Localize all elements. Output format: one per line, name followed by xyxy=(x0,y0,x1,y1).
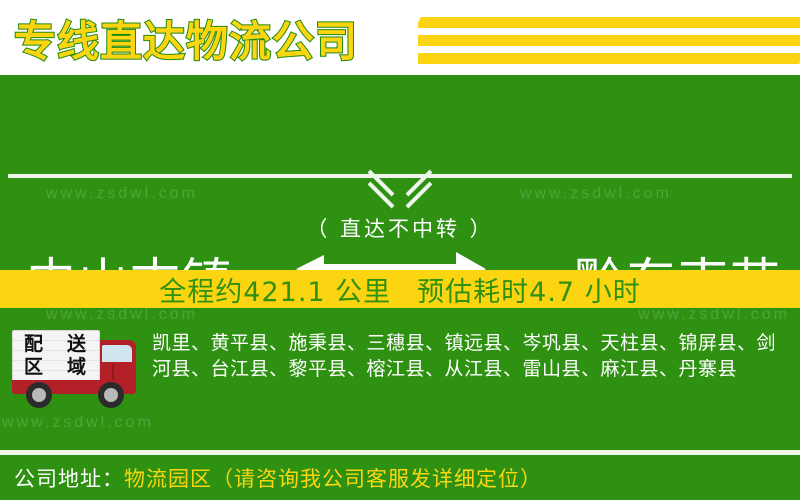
distance-unit: 公里 xyxy=(326,277,392,308)
box-char-2: 送 xyxy=(55,333,98,356)
address-label: 公司地址： xyxy=(14,463,124,493)
stripe-2 xyxy=(418,35,800,46)
distance-prefix: 全程约 xyxy=(159,277,243,308)
watermark: www.zsdwl.com xyxy=(46,306,198,324)
header: 专线直达物流公司 xyxy=(0,0,800,75)
watermark: www.zsdwl.com xyxy=(46,185,198,203)
distance-value: 421.1 xyxy=(243,277,325,308)
truck-box-label: 配 送 区 域 xyxy=(12,333,98,379)
duration-value: 4.7 xyxy=(529,277,575,308)
delivery-truck-icon: 配 送 区 域 xyxy=(12,330,140,404)
truck-wheel-rear xyxy=(26,382,52,408)
coverage-area-list: 凯里、黄平县、施秉县、三穗县、镇远县、岑巩县、天柱县、锦屏县、剑河县、台江县、黎… xyxy=(152,330,788,382)
watermark: www.zsdwl.com xyxy=(638,306,790,324)
stripe-1 xyxy=(418,17,800,28)
truck-window xyxy=(102,345,132,362)
duration-unit: 小时 xyxy=(575,277,641,308)
stats-band: 全程约421.1 公里预估耗时4.7 小时 xyxy=(0,270,800,308)
chevron-down-icon xyxy=(372,171,428,209)
box-char-3: 区 xyxy=(12,356,55,379)
box-char-1: 配 xyxy=(12,333,55,356)
address-value: 物流园区（请咨询我公司客服发详细定位） xyxy=(124,463,542,493)
logistics-banner: 专线直达物流公司 www.zsdwl.com www.zsdwl.com （ 直… xyxy=(0,0,800,500)
footer: 公司地址： 物流园区（请咨询我公司客服发详细定位） xyxy=(0,455,800,500)
chevron-stroke-inner xyxy=(372,171,428,209)
watermark: www.zsdwl.com xyxy=(520,185,672,203)
duration-prefix: 预估耗时 xyxy=(417,277,529,308)
box-char-4: 域 xyxy=(55,356,98,379)
route-panel: www.zsdwl.com www.zsdwl.com （ 直达不中转 ） 中山… xyxy=(0,75,800,270)
stripe-3 xyxy=(418,53,800,64)
direct-shipping-label: （ 直达不中转 ） xyxy=(0,213,800,243)
decorative-stripes xyxy=(418,14,800,66)
stats-text: 全程约421.1 公里预估耗时4.7 小时 xyxy=(159,270,640,309)
truck-wheel-front xyxy=(98,382,124,408)
watermark: www.zsdwl.com xyxy=(2,414,154,432)
company-logo-text: 专线直达物流公司 xyxy=(14,8,358,69)
